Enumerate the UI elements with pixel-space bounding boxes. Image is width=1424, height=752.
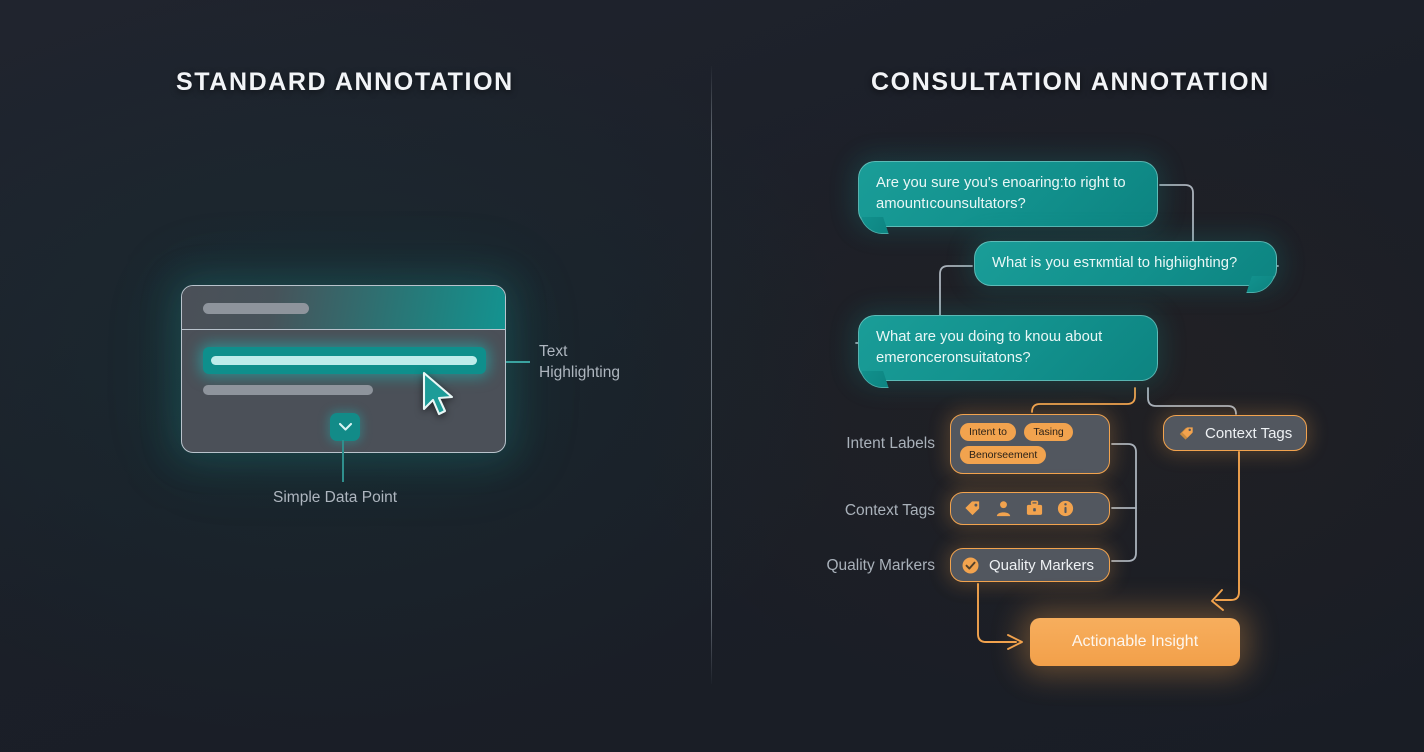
page-title-consultation: CONSULTATION ANNOTATION <box>871 68 1270 97</box>
actionable-insight-button[interactable]: Actionable Insight <box>1030 618 1240 666</box>
page-title-standard: STANDARD ANNOTATION <box>176 68 514 97</box>
highlighted-text-row[interactable] <box>203 347 486 374</box>
plain-text-row <box>203 385 373 395</box>
briefcase-icon[interactable] <box>1025 499 1044 518</box>
standard-annotation-card[interactable] <box>181 285 506 453</box>
mouse-pointer-icon <box>421 371 459 417</box>
intent-chip[interactable]: Benorseement <box>960 446 1046 464</box>
consultation-bubble-3: What are you doing to knoɯ about emeronc… <box>858 315 1158 381</box>
row-label-quality-markers: Quality Markers <box>785 557 935 575</box>
callout-line-simple-data-point <box>342 440 344 482</box>
card-header <box>182 286 505 330</box>
quality-markers-inner: Quality Markers <box>951 549 1109 581</box>
callout-line-1: Text <box>539 342 620 363</box>
header-placeholder-bar <box>203 303 309 314</box>
callout-label-simple-data-point: Simple Data Point <box>273 489 397 507</box>
intent-labels-card[interactable]: Intent to Tasing Benorseement <box>950 414 1110 474</box>
intent-chip[interactable]: Intent to <box>960 423 1016 441</box>
person-icon[interactable] <box>994 499 1013 518</box>
consultation-bubble-1: Are you sure you's enoaring:to right to … <box>858 161 1158 227</box>
row-label-intent-labels: Intent Labels <box>785 435 935 453</box>
context-icon-row <box>951 493 1109 524</box>
callout-line-2: Highlighting <box>539 363 620 384</box>
callout-label-text-highlighting: Text Highlighting <box>539 342 620 383</box>
context-tags-node[interactable]: Context Tags <box>1163 415 1307 451</box>
quality-markers-label: Quality Markers <box>989 557 1094 574</box>
intent-chip[interactable]: Tasing <box>1024 423 1072 441</box>
row-label-context-tags: Context Tags <box>785 502 935 520</box>
chevron-down-button[interactable] <box>330 413 360 441</box>
info-icon[interactable] <box>1056 499 1075 518</box>
highlight-fill <box>211 356 477 365</box>
consultation-bubble-2: What is you esткmtial to highiighting? <box>974 241 1277 286</box>
check-circle-icon <box>961 556 980 575</box>
chevron-down-icon <box>338 422 353 432</box>
tag-cluster-icon <box>1177 424 1196 443</box>
actionable-insight-label: Actionable Insight <box>1072 633 1198 651</box>
tag-icon[interactable] <box>963 499 982 518</box>
context-tags-node-label: Context Tags <box>1205 425 1292 442</box>
callout-line-text-highlighting <box>506 361 530 363</box>
context-tags-card[interactable] <box>950 492 1110 525</box>
panel-divider <box>711 66 712 684</box>
quality-markers-card[interactable]: Quality Markers <box>950 548 1110 582</box>
diagram-canvas: STANDARD ANNOTATION CONSULTATION ANNOTAT… <box>0 0 1424 752</box>
